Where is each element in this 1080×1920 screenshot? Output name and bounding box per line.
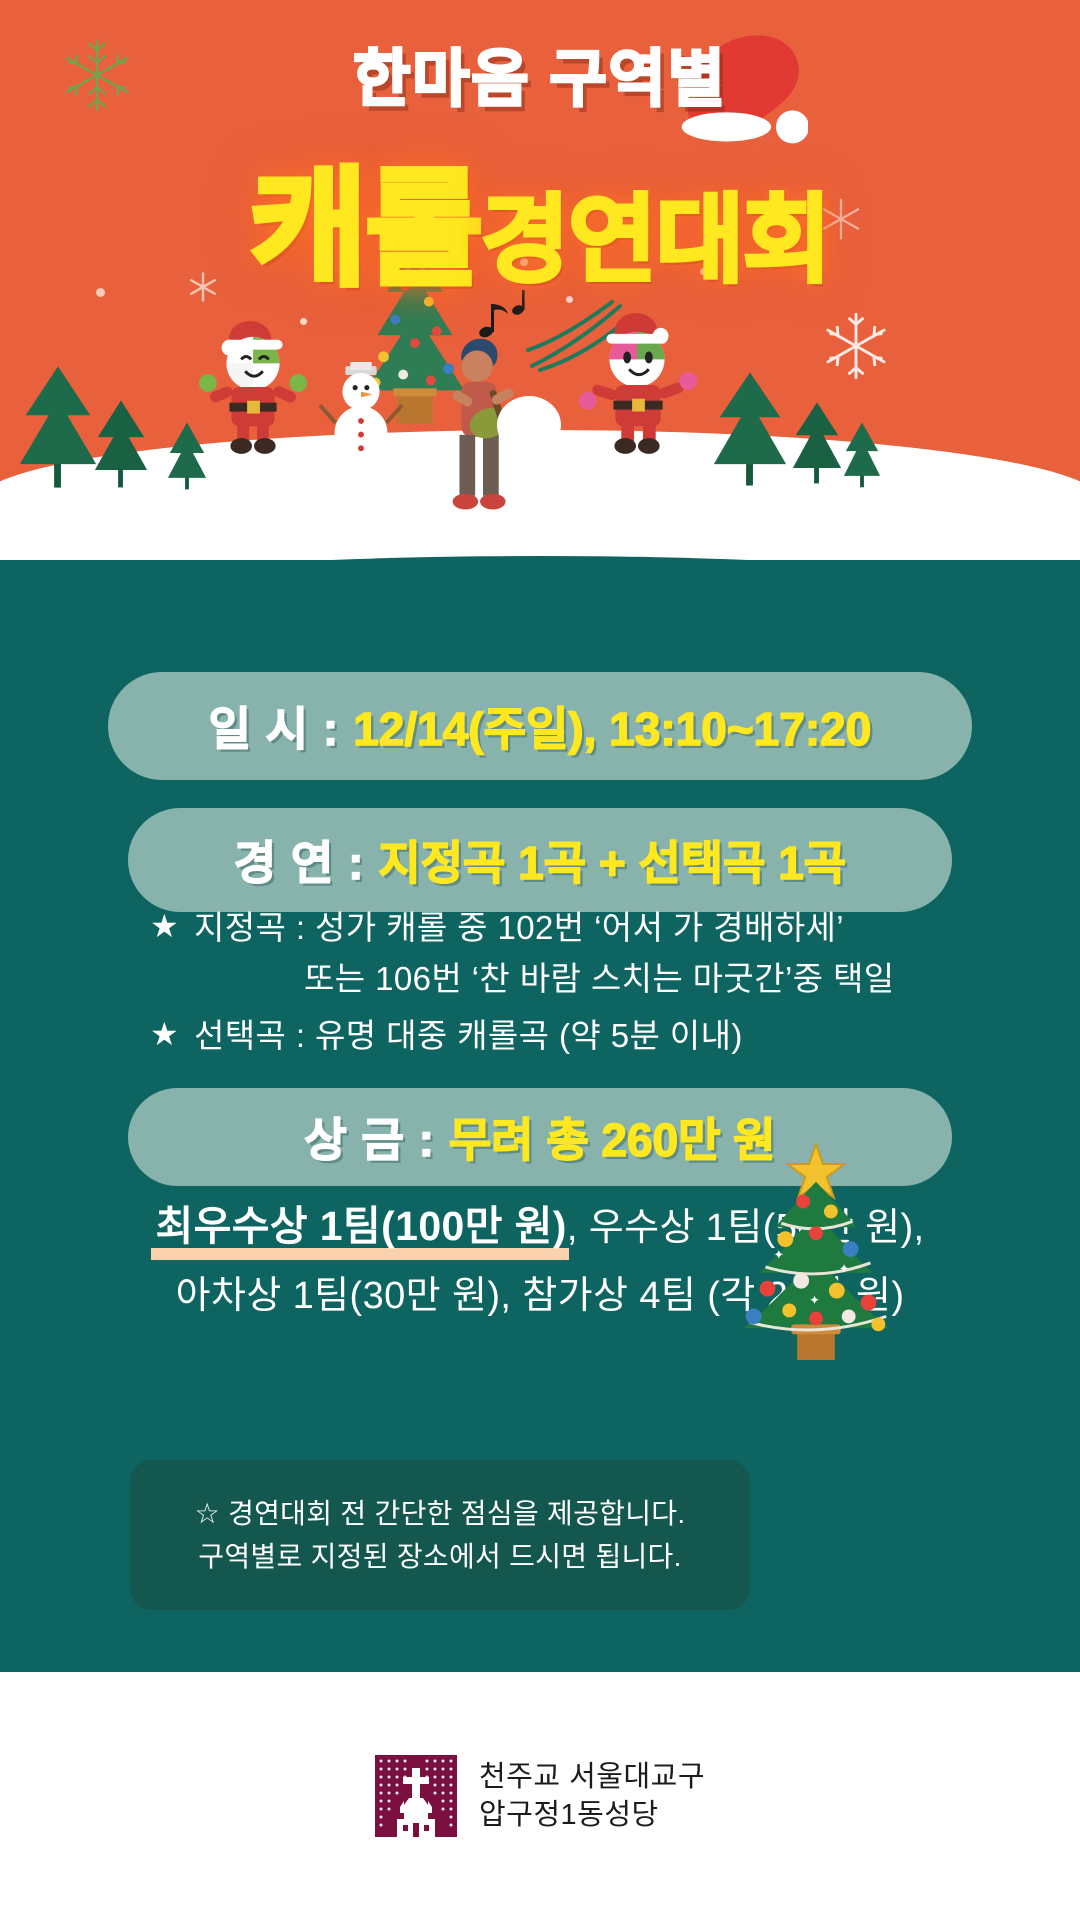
page-title-line2: 캐롤경연대회 <box>0 125 1080 310</box>
top-prize-highlight: 최우수상 1팀(100만 원) <box>155 1196 566 1258</box>
page-title-rest: 경연대회 <box>481 187 830 294</box>
poster-root: 한마음 구역별 캐롤경연대회 일 시 : 12/14(주일), 13:10~17… <box>0 0 1080 1920</box>
org-line1: 천주교 서울대교구 <box>479 1758 705 1796</box>
svg-text:✦: ✦ <box>809 1293 820 1308</box>
bullet-text-secondary: 또는 106번 ‘찬 바람 스치는 마굿간’중 택일 <box>194 956 895 1003</box>
contest-pill: 경 연 : 지정곡 1곡 + 선택곡 1곡 <box>128 808 952 912</box>
santa-mascot-right <box>578 310 698 456</box>
note-line1-text: 경연대회 전 간단한 점심을 제공합니다. <box>228 1498 685 1529</box>
contest-label: 경 연 : <box>234 827 365 893</box>
prize-breakdown-line1: 최우수상 1팀(100만 원), 우수상 1팀(50만 원), <box>0 1196 1080 1258</box>
page-title-line1: 한마음 구역별 <box>0 28 1080 118</box>
svg-text:✦: ✦ <box>839 1261 850 1276</box>
snowman-icon <box>318 362 404 470</box>
bullet-text-primary: 지정곡 : 성가 캐롤 중 102번 ‘어서 가 경배하세’ <box>194 905 844 952</box>
snowflake-icon <box>820 310 892 382</box>
datetime-value: 12/14(주일), 13:10~17:20 <box>353 693 871 759</box>
organization-name: 천주교 서울대교구 압구정1동성당 <box>479 1758 705 1835</box>
star-icon: ★ <box>150 1013 194 1056</box>
prize-breakdown-line2: 아차상 1팀(30만 원), 참가상 4팀 (각 20만 원) <box>0 1268 1080 1325</box>
prize-label: 상 금 : <box>304 1104 435 1170</box>
svg-text:✦: ✦ <box>773 1247 784 1262</box>
note-line2: 구역별로 지정된 장소에서 드시면 됩니다. <box>130 1535 750 1578</box>
datetime-label: 일 시 : <box>209 693 340 759</box>
church-cross-logo <box>375 1755 457 1837</box>
lunch-note-box: ☆ 경연대회 전 간단한 점심을 제공합니다. 구역별로 지정된 장소에서 드시… <box>130 1460 750 1610</box>
pine-tree-icon <box>842 418 882 488</box>
pine-tree-icon <box>92 396 150 488</box>
contest-value: 지정곡 1곡 + 선택곡 1곡 <box>378 827 846 893</box>
list-item-continuation: 또는 106번 ‘찬 바람 스치는 마굿간’중 택일 <box>150 956 970 1003</box>
list-item: ★ 지정곡 : 성가 캐롤 중 102번 ‘어서 가 경배하세’ <box>150 905 970 952</box>
decorated-christmas-tree-icon: ✦ ✦ ✦ <box>718 1142 914 1372</box>
star-icon: ★ <box>150 905 194 948</box>
santa-mascot-left <box>196 316 314 456</box>
page-title-emphasis: 캐롤 <box>250 158 482 301</box>
org-line2: 압구정1동성당 <box>479 1796 705 1834</box>
song-bullet-list: ★ 지정곡 : 성가 캐롤 중 102번 ‘어서 가 경배하세’ 또는 106번… <box>150 905 970 1064</box>
note-line1: ☆ 경연대회 전 간단한 점심을 제공합니다. <box>130 1492 750 1535</box>
pine-tree-icon <box>14 362 102 490</box>
bullet-text-primary: 선택곡 : 유명 대중 캐롤곡 (약 5분 이내) <box>194 1013 743 1060</box>
snowball-icon <box>496 394 562 456</box>
star-outline-icon: ☆ <box>195 1498 220 1529</box>
pine-tree-icon <box>790 398 844 484</box>
snow-ground <box>0 462 1080 560</box>
datetime-pill: 일 시 : 12/14(주일), 13:10~17:20 <box>108 672 972 780</box>
pine-tree-icon <box>710 368 790 486</box>
footer: 천주교 서울대교구 압구정1동성당 <box>0 1672 1080 1920</box>
list-item: ★ 선택곡 : 유명 대중 캐롤곡 (약 5분 이내) <box>150 1013 970 1060</box>
prize-breakdown: 최우수상 1팀(100만 원), 우수상 1팀(50만 원), 아차상 1팀(3… <box>0 1196 1080 1325</box>
